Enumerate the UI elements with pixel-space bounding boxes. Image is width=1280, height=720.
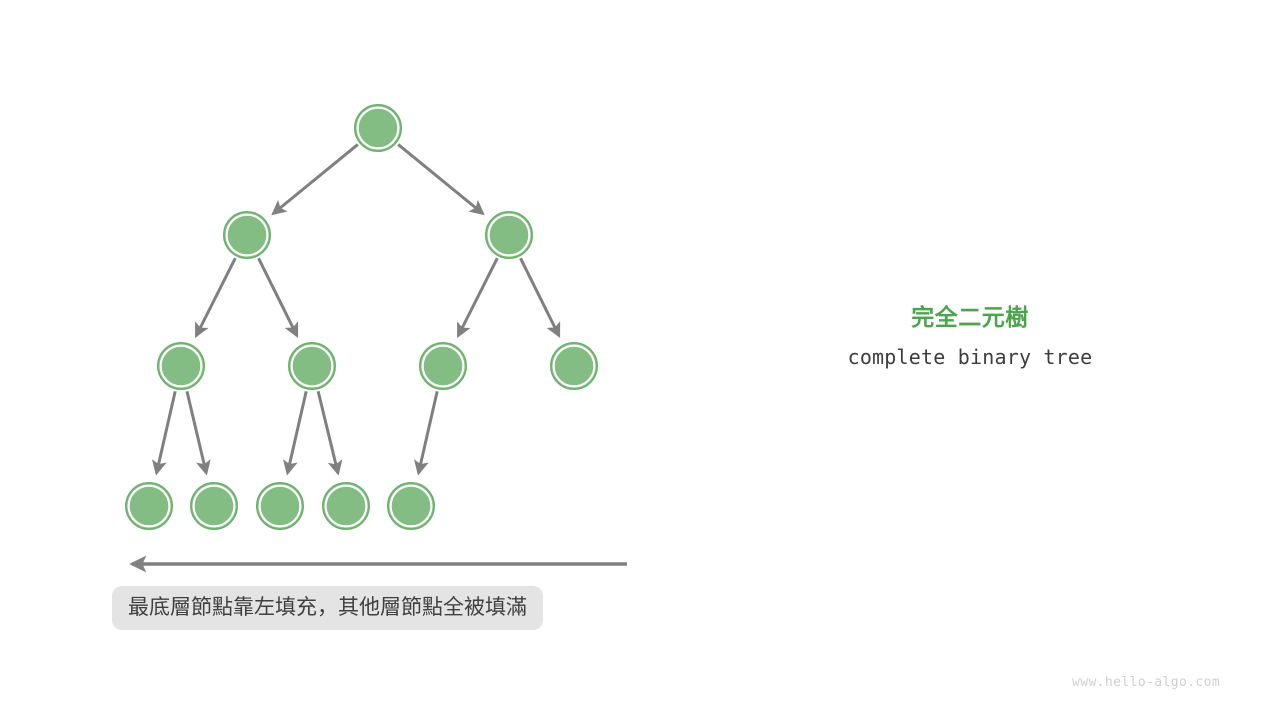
tree-node-disc [392,487,430,525]
caption-badge: 最底層節點靠左填充，其他層節點全被填滿 [112,586,543,630]
tree-node[interactable] [355,105,401,151]
tree-node[interactable] [323,483,369,529]
tree-node-disc [293,347,331,385]
tree-node-disc [195,487,233,525]
tree-node-disc [130,487,168,525]
tree-edge [288,391,307,473]
tree-node[interactable] [420,343,466,389]
tree-node-layer [126,105,597,529]
tree-node-disc [490,216,528,254]
tree-node[interactable] [191,483,237,529]
tree-node[interactable] [224,212,270,258]
tree-node-disc [327,487,365,525]
tree-node[interactable] [289,343,335,389]
tree-node[interactable] [158,343,204,389]
tree-node[interactable] [257,483,303,529]
tree-edge [196,258,235,335]
tree-node-disc [424,347,462,385]
site-watermark: www.hello-algo.com [1072,675,1220,690]
tree-node[interactable] [486,212,532,258]
tree-edge-layer [157,144,559,473]
tree-edge [273,144,358,213]
tree-edge [318,391,338,473]
tree-node-disc [162,347,200,385]
tree-node[interactable] [551,343,597,389]
tree-edge [398,144,483,213]
tree-edge [259,258,297,335]
tree-edge [521,258,559,335]
diagram-title: 完全二元樹 [820,298,1120,332]
tree-node-disc [228,216,266,254]
diagram-subtitle: complete binary tree [820,345,1120,369]
tree-node-disc [359,109,397,147]
tree-node-disc [261,487,299,525]
tree-edge [458,258,497,335]
tree-edge [187,391,206,473]
tree-edge [419,391,438,473]
tree-edge [157,391,176,473]
tree-node[interactable] [388,483,434,529]
tree-node[interactable] [126,483,172,529]
tree-node-disc [555,347,593,385]
